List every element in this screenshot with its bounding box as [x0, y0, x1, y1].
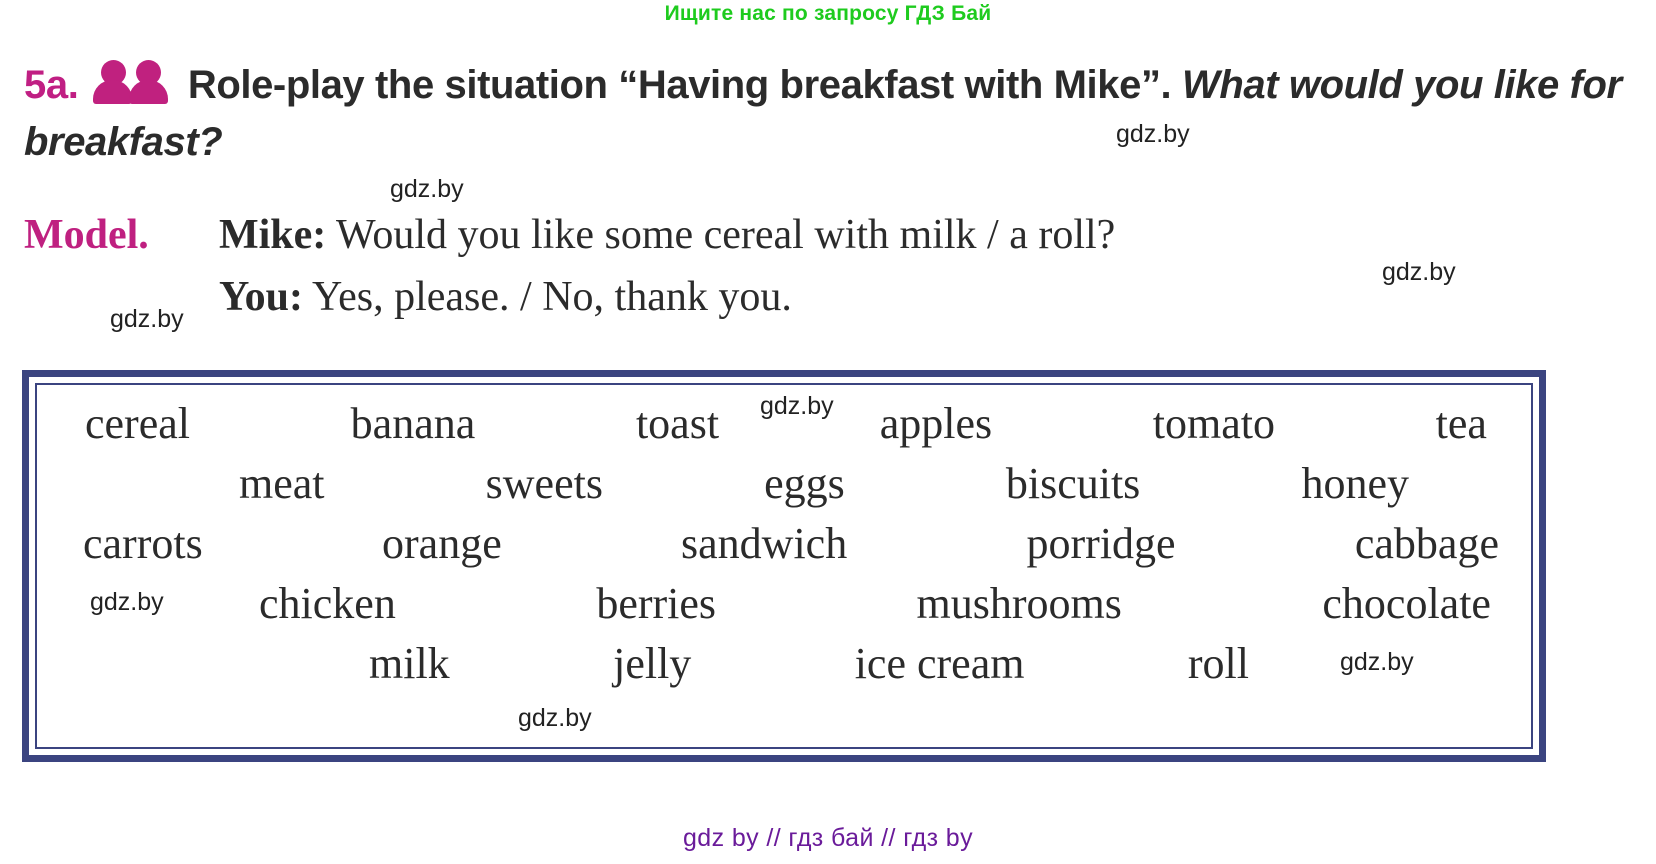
word-item: berries	[596, 578, 716, 629]
word-item: biscuits	[1006, 458, 1140, 509]
word-row: meat sweets eggs biscuits honey	[59, 453, 1509, 513]
word-item: milk	[369, 638, 450, 689]
person-body-right	[129, 80, 168, 104]
model-label: Model.	[24, 204, 219, 266]
word-bank-box: cereal banana toast apples tomato tea me…	[22, 370, 1546, 762]
word-row: milk jelly ice cream roll	[59, 633, 1509, 693]
word-item: chocolate	[1322, 578, 1491, 629]
word-item: meat	[239, 458, 325, 509]
word-item: cereal	[85, 398, 190, 449]
word-row: chicken berries mushrooms chocolate	[59, 573, 1509, 633]
watermark: gdz.by	[1382, 258, 1456, 287]
watermark: gdz.by	[1116, 120, 1190, 149]
exercise-instruction: Role-play the situation “Having breakfas…	[188, 63, 1171, 107]
word-bank-list: cereal banana toast apples tomato tea me…	[59, 393, 1509, 739]
watermark: gdz.by	[90, 588, 164, 617]
watermark: gdz.by	[390, 175, 464, 204]
speaker-mike: Mike:	[219, 212, 326, 258]
word-item: sandwich	[681, 518, 847, 569]
word-item: porridge	[1027, 518, 1176, 569]
word-item: toast	[636, 398, 719, 449]
word-item: sweets	[486, 458, 603, 509]
word-item: roll	[1188, 638, 1249, 689]
word-item: honey	[1301, 458, 1409, 509]
watermark: gdz.by	[110, 305, 184, 334]
word-item: eggs	[764, 458, 845, 509]
word-item: tomato	[1153, 398, 1275, 449]
word-row: carrots orange sandwich porridge cabbage	[59, 513, 1509, 573]
word-item: apples	[880, 398, 992, 449]
exercise-heading: 5a. Role-play the situation “Having brea…	[24, 57, 1634, 171]
footer-links: gdz by // гдз бай // гдз by	[0, 824, 1656, 853]
watermark: gdz.by	[760, 392, 834, 421]
speaker-you: You:	[219, 274, 303, 320]
person-body-left	[93, 80, 132, 104]
word-item: cabbage	[1355, 518, 1499, 569]
two-people-icon	[93, 60, 171, 104]
model-mike-text: Would you like some cereal with milk / a…	[336, 212, 1115, 258]
model-line-mike: Model.Mike: Would you like some cereal w…	[24, 204, 1624, 266]
exercise-number: 5a.	[24, 63, 78, 107]
word-item: carrots	[83, 518, 203, 569]
watermark: gdz.by	[518, 704, 592, 733]
word-item: orange	[382, 518, 502, 569]
word-item: mushrooms	[917, 578, 1122, 629]
word-item: banana	[351, 398, 476, 449]
watermark: gdz.by	[1340, 648, 1414, 677]
word-item: chicken	[259, 578, 396, 629]
word-bank-inner-border: cereal banana toast apples tomato tea me…	[35, 383, 1533, 749]
model-you-text: Yes, please. / No, thank you.	[312, 274, 792, 320]
word-item: jelly	[613, 638, 691, 689]
word-item: tea	[1436, 398, 1487, 449]
site-promo-banner: Ищите нас по запросу ГДЗ Бай	[0, 0, 1656, 28]
word-item: ice cream	[855, 638, 1025, 689]
